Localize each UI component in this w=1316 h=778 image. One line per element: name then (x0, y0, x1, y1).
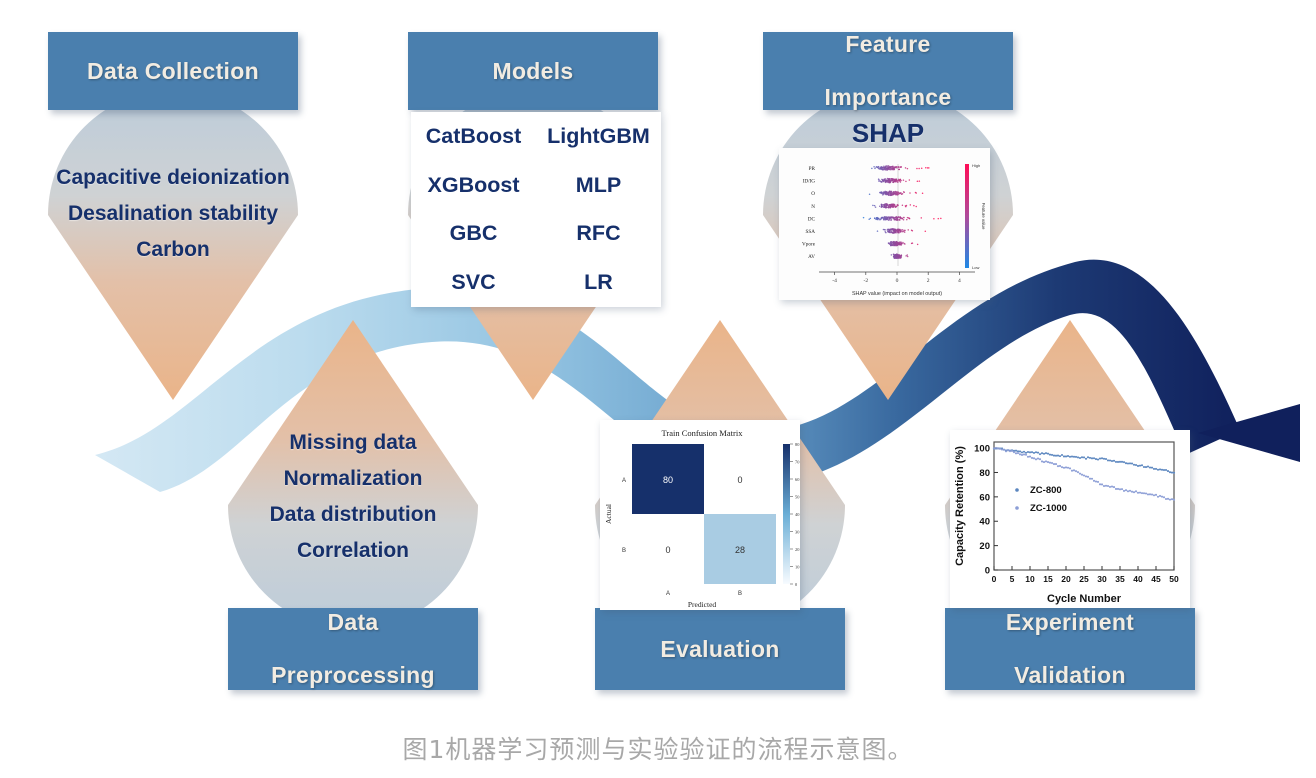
svg-text:5: 5 (1010, 574, 1015, 584)
model-lightgbm[interactable]: LightGBM (536, 112, 661, 161)
svg-text:100: 100 (974, 443, 990, 454)
cm-title: Train Confusion Matrix (662, 428, 744, 438)
svg-text:80: 80 (795, 442, 800, 447)
header-data-collection[interactable]: Data Collection (48, 32, 298, 110)
models-row: GBC RFC (411, 210, 661, 259)
legend-label-zc800: ZC-800 (1030, 485, 1062, 496)
svg-text:60: 60 (979, 492, 990, 503)
svg-text:45: 45 (1151, 574, 1161, 584)
cm-value-1-1: 28 (735, 545, 745, 555)
svg-text:2: 2 (927, 278, 930, 284)
header-evaluation[interactable]: Evaluation (595, 608, 845, 690)
svg-text:40: 40 (795, 512, 800, 517)
cm-ylabel: Actual (604, 504, 613, 524)
cm-ytick-0: A (622, 478, 626, 484)
header-feature-importance-label: Feature Importance (809, 31, 968, 111)
svg-text:4: 4 (958, 278, 961, 284)
header-experiment-validation[interactable]: Experiment Validation (945, 608, 1195, 690)
teardrop-data-collection (48, 90, 298, 400)
header-data-preprocessing[interactable]: Data Preprocessing (228, 608, 478, 690)
header-models[interactable]: Models (408, 32, 658, 110)
svg-text:DC: DC (808, 216, 816, 222)
svg-text:PR: PR (809, 166, 816, 172)
capacity-retention-svg: 020406080100 05101520253035404550 Cycle … (950, 430, 1190, 608)
shap-colorbar-high: High (972, 163, 980, 168)
svg-text:50: 50 (1169, 574, 1179, 584)
models-row: XGBoost MLP (411, 161, 661, 210)
figure-caption: 图1机器学习预测与实验验证的流程示意图。 (0, 730, 1316, 766)
confusion-matrix-chart: Train Confusion Matrix 80 0 0 28 A B A B… (600, 420, 800, 610)
header-evaluation-label: Evaluation (652, 636, 787, 663)
model-mlp[interactable]: MLP (536, 161, 661, 210)
svg-text:-2: -2 (863, 278, 868, 284)
shap-colorbar-label: Feature value (981, 203, 986, 230)
shap-xlabel: SHAP value (impact on model output) (852, 291, 942, 297)
svg-text:0: 0 (985, 565, 990, 576)
workflow-diagram: Capacitive deionization Desalination sta… (0, 0, 1316, 778)
svg-text:80: 80 (979, 468, 990, 479)
svg-text:AV: AV (808, 254, 815, 260)
svg-text:70: 70 (795, 460, 800, 465)
header-feature-importance-line2: Importance (817, 84, 960, 111)
cm-value-0-0: 80 (663, 475, 673, 485)
model-rfc[interactable]: RFC (536, 210, 661, 259)
cm-ytick-1: B (622, 548, 626, 554)
header-feature-importance-line1: Feature (817, 31, 960, 58)
svg-text:40: 40 (1133, 574, 1143, 584)
header-data-preprocessing-line2: Preprocessing (263, 662, 443, 689)
legend-label-zc1000: ZC-1000 (1030, 503, 1067, 514)
svg-text:40: 40 (979, 517, 990, 528)
capacity-ylabel: Capacity Retention (%) (954, 446, 966, 566)
svg-text:ID/IG: ID/IG (803, 179, 816, 185)
header-experiment-validation-label: Experiment Validation (990, 609, 1150, 689)
shap-colorbar-low: Low (972, 265, 979, 270)
svg-text:20: 20 (979, 541, 990, 552)
svg-text:50: 50 (795, 495, 800, 500)
svg-text:35: 35 (1115, 574, 1125, 584)
header-data-collection-label: Data Collection (79, 58, 267, 85)
header-data-preprocessing-label: Data Preprocessing (255, 609, 451, 689)
svg-text:-4: -4 (832, 278, 837, 284)
svg-text:20: 20 (1061, 574, 1071, 584)
shap-beeswarm-chart: -4-2024 SHAP value (impact on model outp… (779, 148, 990, 300)
models-row: CatBoost LightGBM (411, 112, 661, 161)
svg-text:0: 0 (896, 278, 899, 284)
header-experiment-validation-line2: Validation (998, 662, 1142, 689)
svg-text:30: 30 (1097, 574, 1107, 584)
shap-plot-svg: -4-2024 SHAP value (impact on model outp… (779, 148, 990, 300)
svg-text:15: 15 (1043, 574, 1053, 584)
svg-text:25: 25 (1079, 574, 1089, 584)
legend-marker-zc800 (1015, 488, 1019, 492)
model-gbc[interactable]: GBC (411, 210, 536, 259)
legend-marker-zc1000 (1015, 506, 1019, 510)
cm-xlabel: Predicted (688, 600, 717, 609)
svg-text:10: 10 (1025, 574, 1035, 584)
model-lr[interactable]: LR (536, 258, 661, 307)
model-xgboost[interactable]: XGBoost (411, 161, 536, 210)
models-list-card: CatBoost LightGBM XGBoost MLP GBC RFC SV… (411, 112, 661, 307)
teardrop-data-preprocessing (228, 320, 478, 630)
svg-text:20: 20 (795, 547, 800, 552)
svg-text:30: 30 (795, 530, 800, 535)
cm-value-1-0: 0 (665, 545, 670, 555)
svg-text:Vpore: Vpore (802, 242, 816, 248)
svg-text:0: 0 (992, 574, 997, 584)
cm-value-0-1: 0 (737, 475, 742, 485)
capacity-xlabel: Cycle Number (1047, 593, 1122, 605)
header-models-label: Models (484, 58, 581, 85)
cm-xtick-0: A (666, 591, 670, 597)
svg-text:O: O (811, 191, 815, 197)
model-svc[interactable]: SVC (411, 258, 536, 307)
model-catboost[interactable]: CatBoost (411, 112, 536, 161)
confusion-matrix-svg: Train Confusion Matrix 80 0 0 28 A B A B… (600, 420, 800, 610)
svg-text:10: 10 (795, 565, 800, 570)
models-row: SVC LR (411, 258, 661, 307)
svg-text:N: N (811, 204, 815, 210)
svg-text:60: 60 (795, 477, 800, 482)
header-feature-importance[interactable]: Feature Importance (763, 32, 1013, 110)
header-experiment-validation-line1: Experiment (998, 609, 1142, 636)
header-data-preprocessing-line1: Data (263, 609, 443, 636)
svg-text:SSA: SSA (805, 229, 815, 235)
capacity-retention-chart: 020406080100 05101520253035404550 Cycle … (950, 430, 1190, 608)
cm-xtick-1: B (738, 591, 742, 597)
